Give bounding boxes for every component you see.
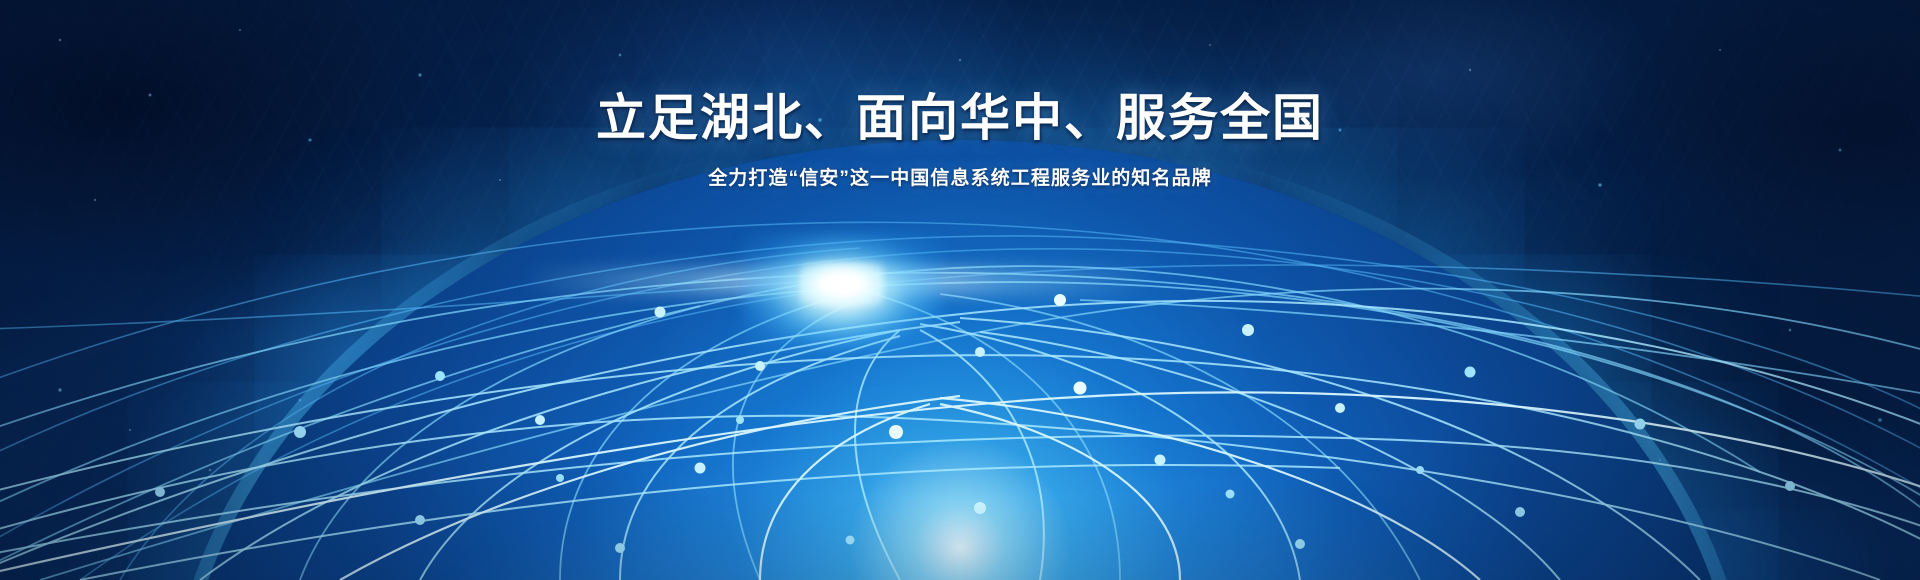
- banner-copy: 立足湖北、面向华中、服务全国 全力打造“信安”这一中国信息系统工程服务业的知名品…: [0, 88, 1920, 193]
- banner-subheadline: 全力打造“信安”这一中国信息系统工程服务业的知名品牌: [0, 166, 1920, 193]
- banner-headline: 立足湖北、面向华中、服务全国: [0, 88, 1920, 148]
- globe-hotspot-core: [800, 262, 884, 306]
- hero-banner: 立足湖北、面向华中、服务全国 全力打造“信安”这一中国信息系统工程服务业的知名品…: [0, 0, 1920, 580]
